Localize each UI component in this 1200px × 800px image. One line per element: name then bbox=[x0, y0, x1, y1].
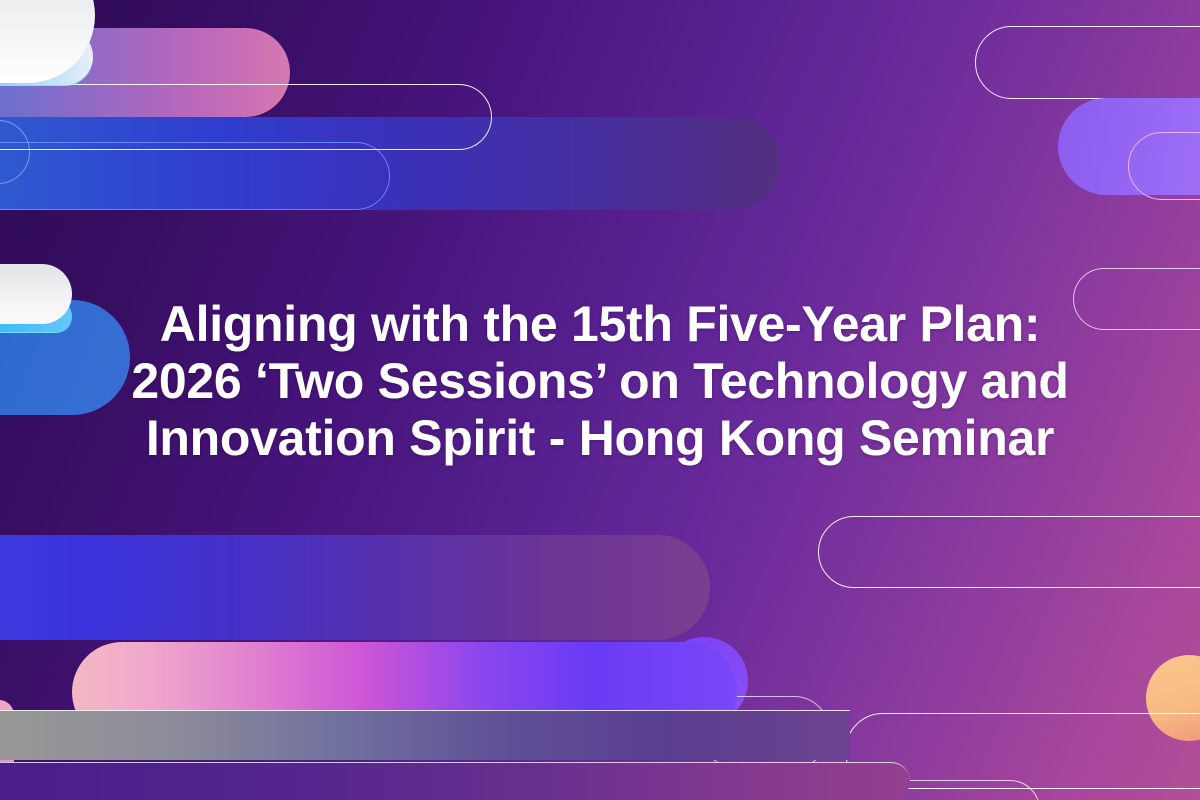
decoration-top-left-white-outline-pill bbox=[0, 84, 492, 150]
decoration-left-middle-white-block bbox=[0, 264, 72, 324]
decoration-top-right-white-outline-pill bbox=[975, 26, 1200, 99]
decoration-bottom-left-gray-band bbox=[0, 710, 850, 760]
decoration-top-left-blue-outline-pill bbox=[0, 142, 390, 210]
decoration-bottom-left-blue-band bbox=[0, 535, 710, 640]
event-banner: Aligning with the 15th Five-Year Plan: 2… bbox=[0, 0, 1200, 800]
decoration-right-middle-outline-pill bbox=[1073, 268, 1200, 330]
page-title: Aligning with the 15th Five-Year Plan: 2… bbox=[110, 296, 1090, 467]
decoration-bottom-left-dark-band bbox=[0, 762, 910, 800]
decoration-top-right-pink-outline-pill bbox=[1128, 132, 1200, 200]
decoration-bottom-right-outline-pill-top bbox=[818, 516, 1200, 588]
title-container: Aligning with the 15th Five-Year Plan: 2… bbox=[0, 296, 1200, 467]
